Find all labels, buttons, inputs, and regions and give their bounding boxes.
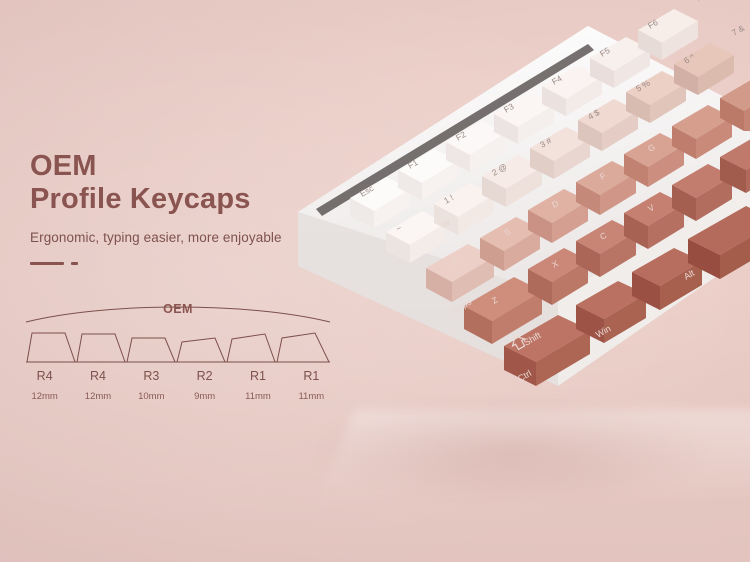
- diagram-column: R3 10mm: [125, 370, 178, 401]
- keycap-shape-6: [277, 333, 329, 362]
- row-label: R1: [285, 370, 338, 383]
- height-label: 11mm: [285, 392, 338, 402]
- diagram-column: R4 12mm: [18, 370, 71, 401]
- height-label: 11mm: [231, 392, 284, 402]
- row-label: R1: [231, 370, 284, 383]
- headline-block: OEM Profile Keycaps Ergonomic, typing ea…: [30, 150, 360, 265]
- keyboard-reflection: [306, 410, 750, 530]
- keycap-shape-5: [227, 334, 275, 362]
- product-banner: Esc F1 F2 F3 F4 F5 F6 F7 ~ 1 ! 2 @ 3 # 4…: [0, 0, 750, 562]
- height-label: 9mm: [178, 392, 231, 402]
- legend-f7: F7: [694, 0, 708, 3]
- headline-line1: OEM: [30, 150, 97, 182]
- height-label: 10mm: [125, 392, 178, 402]
- divider-dash-short: [71, 262, 78, 265]
- diagram-column: R1 11mm: [231, 370, 284, 401]
- profile-diagram: OEM R4 12mm R4 12mm R3: [18, 300, 338, 420]
- height-label: 12mm: [71, 392, 124, 402]
- legend-7: 7 &: [730, 23, 746, 38]
- row-label: R2: [178, 370, 231, 383]
- row-label: R4: [18, 370, 71, 383]
- divider: [30, 262, 360, 265]
- headline-line2: Profile Keycaps: [30, 183, 360, 216]
- row-label: R4: [71, 370, 124, 383]
- page-title: OEM Profile Keycaps: [30, 150, 360, 216]
- keycap-shape-4: [177, 338, 225, 362]
- diagram-labels: R4 12mm R4 12mm R3 10mm R2 9mm R1 11mm R…: [18, 370, 338, 401]
- subtitle: Ergonomic, typing easier, more enjoyable: [30, 230, 360, 245]
- diagram-column: R4 12mm: [71, 370, 124, 401]
- keycap-shape-1: [27, 333, 75, 362]
- diagram-column: R2 9mm: [178, 370, 231, 401]
- height-label: 12mm: [18, 392, 71, 402]
- diagram-title: OEM: [18, 302, 338, 316]
- row-label: R3: [125, 370, 178, 383]
- diagram-column: R1 11mm: [285, 370, 338, 401]
- keycap-shape-3: [127, 338, 175, 362]
- keycap-shape-2: [77, 334, 125, 362]
- divider-dash-long: [30, 262, 64, 265]
